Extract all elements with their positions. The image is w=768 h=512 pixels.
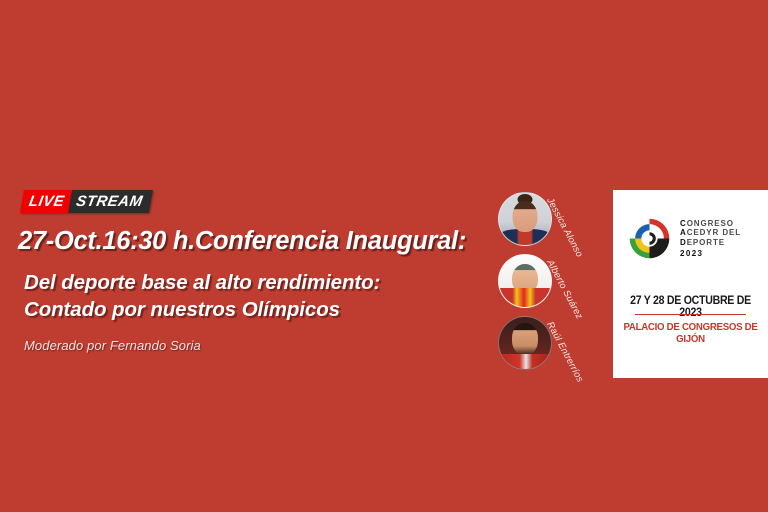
congress-dates: 27 Y 28 DE OCTUBRE DE 2023 [619, 295, 762, 319]
stream-label: STREAM [68, 190, 152, 213]
logo-line-2: ACEDYR DEL [680, 228, 741, 238]
live-label: LIVE [20, 190, 72, 213]
speakers-column: Jessica Alonso Alberto Suárez Raúl Entre… [498, 192, 603, 384]
congress-venue: PALACIO DE CONGRESOS DE GIJÓN [619, 321, 762, 345]
event-moderator: Moderado por Fernando Soria [18, 338, 488, 353]
speaker-item: Raúl Entrerríos [498, 316, 552, 370]
logo-row: CONGRESO ACEDYR DEL DEPORTE 2023 [627, 216, 758, 261]
event-subtitle-line-2: Contado por nuestros Olímpicos [18, 296, 488, 323]
congress-info-card: CONGRESO ACEDYR DEL DEPORTE 2023 27 Y 28… [613, 190, 768, 378]
speaker-item: Jessica Alonso [498, 192, 552, 246]
speaker-item: Alberto Suárez [498, 254, 552, 308]
card-divider [635, 314, 746, 315]
card-logo-block: CONGRESO ACEDYR DEL DEPORTE 2023 [613, 190, 768, 261]
event-subtitle-line-1: Del deporte base al alto rendimiento: [18, 269, 488, 296]
live-stream-badge: LIVE STREAM [20, 190, 153, 213]
event-headline: 27-Oct.16:30 h.Conferencia Inaugural: [18, 226, 488, 256]
speaker-name: Raúl Entrerríos [544, 320, 585, 384]
logo-year: 2023 [680, 249, 741, 259]
logo-line-3: DEPORTE [680, 238, 741, 248]
congress-logo-text: CONGRESO ACEDYR DEL DEPORTE 2023 [680, 219, 741, 258]
event-text-block: LIVE STREAM 27-Oct.16:30 h.Conferencia I… [18, 190, 488, 353]
congress-swirl-logo-icon [627, 216, 672, 261]
logo-line-1: CONGRESO [680, 219, 741, 229]
